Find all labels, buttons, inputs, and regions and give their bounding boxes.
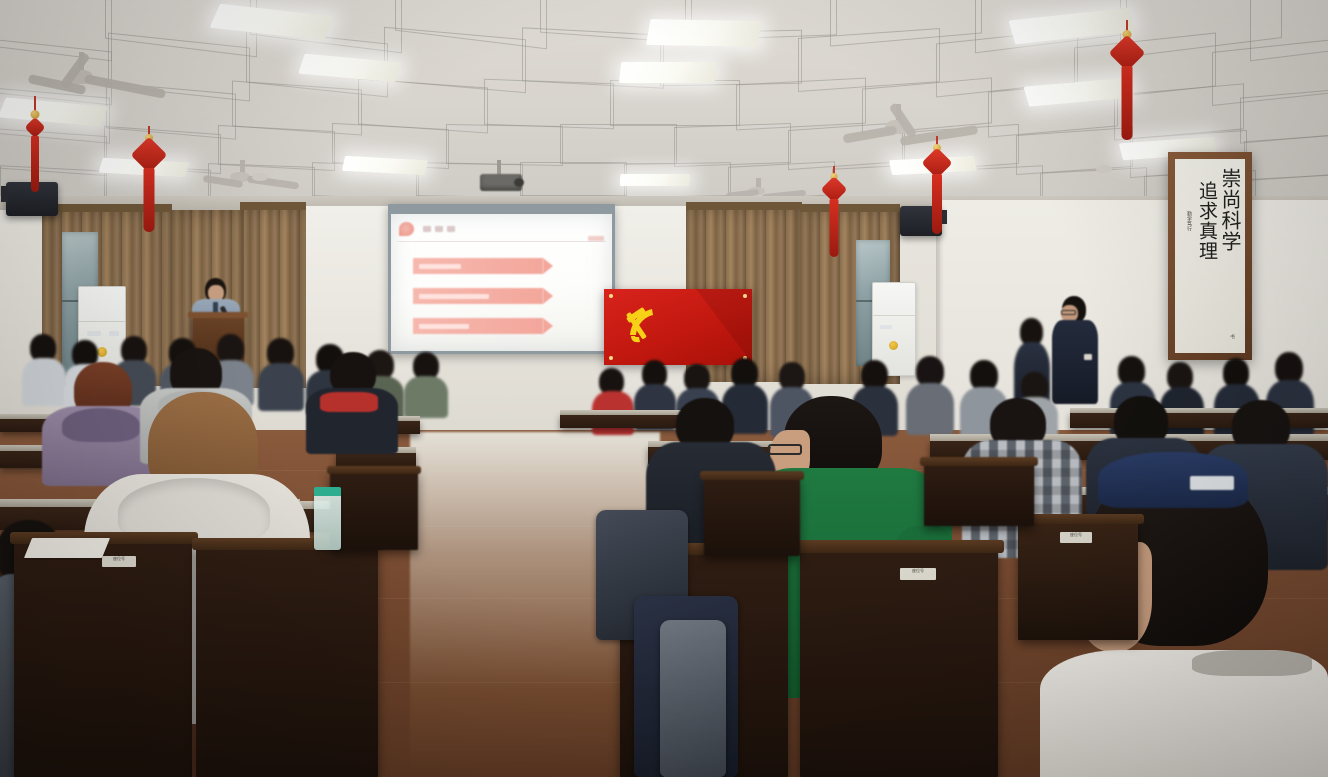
backpack[interactable] xyxy=(660,620,726,777)
lecture-chair[interactable] xyxy=(704,476,800,556)
curtain-rail-left-2 xyxy=(240,202,306,210)
smoke-detector xyxy=(252,173,268,181)
water-bottle[interactable] xyxy=(314,492,341,550)
lecture-chair[interactable] xyxy=(924,462,1034,526)
slide-divider xyxy=(397,241,606,242)
calligraphy-inscription: 勤学笃行 xyxy=(1186,211,1193,231)
slide-bullet-text xyxy=(419,294,489,299)
hammer-and-sickle-icon xyxy=(622,303,668,347)
collar xyxy=(1192,650,1312,676)
ceiling-light-panel xyxy=(620,174,691,186)
calligraphy-signature: 书 xyxy=(1229,334,1236,339)
lecture-chair[interactable] xyxy=(800,548,998,777)
curtain-rail-right xyxy=(686,202,802,210)
smoke-detector xyxy=(1096,165,1112,173)
projection-screen[interactable] xyxy=(391,214,612,351)
attendee-body xyxy=(404,376,448,418)
chair-top-rail xyxy=(327,466,421,474)
ceiling-light-panel xyxy=(646,19,762,47)
open-notebook[interactable] xyxy=(24,538,110,558)
slide-logo-icon xyxy=(399,222,414,236)
lecture-hall-photo: 崇尚科学 追求真理 勤学笃行 书 xyxy=(0,0,1328,777)
chinese-knot-hanging xyxy=(822,166,846,266)
standing-attendee-jacket xyxy=(1052,320,1098,404)
slide-bullet-arrow-icon xyxy=(543,288,553,304)
slide-bullet-text xyxy=(419,324,469,329)
lecture-chair[interactable] xyxy=(14,538,192,777)
chinese-knot-hanging xyxy=(1112,20,1142,150)
slide-bullet-text xyxy=(419,264,461,269)
ceiling-light-panel xyxy=(619,62,717,83)
framed-calligraphy: 崇尚科学 追求真理 勤学笃行 书 xyxy=(1168,152,1252,360)
chinese-knot-hanging xyxy=(24,96,46,206)
seat-number-plate: 座位号 xyxy=(1060,532,1092,543)
jacket-badge xyxy=(1084,354,1092,360)
chair-top-rail xyxy=(796,540,1004,553)
chair-top-rail xyxy=(700,471,804,480)
list-item xyxy=(404,352,448,412)
calligraphy-column-2: 追求真理 xyxy=(1197,181,1216,261)
slide-header-text xyxy=(447,226,455,232)
slide-corner-mark xyxy=(588,236,604,241)
cabinet-label xyxy=(880,325,892,329)
slide-bullet-arrow-icon xyxy=(543,318,553,334)
chinese-knot-hanging xyxy=(924,136,950,246)
cabinet-label xyxy=(87,331,101,336)
chinese-knot-hanging xyxy=(135,126,163,236)
slide-header-text xyxy=(423,226,431,232)
glasses-icon xyxy=(1061,310,1076,315)
cap-logo xyxy=(1190,476,1234,490)
lecture-chair[interactable] xyxy=(330,470,418,550)
slide-header-text xyxy=(435,226,443,232)
seat-number-plate: 座位号 xyxy=(102,556,136,567)
projector-lens-icon xyxy=(514,178,524,187)
chair-top-rail xyxy=(920,457,1038,466)
slide-bullet-arrow-icon xyxy=(543,258,553,274)
lecture-chair[interactable] xyxy=(196,545,378,777)
seat-number-plate: 座位号 xyxy=(900,568,936,580)
calligraphy-column-1: 崇尚科学 xyxy=(1220,168,1240,252)
red-scarf xyxy=(320,392,378,412)
attendee-red-scarf xyxy=(306,352,398,448)
bottle-cap xyxy=(314,487,341,496)
podium-top xyxy=(188,312,248,318)
cabinet-emblem xyxy=(889,341,898,350)
curtain-rail-right-2 xyxy=(800,204,900,212)
